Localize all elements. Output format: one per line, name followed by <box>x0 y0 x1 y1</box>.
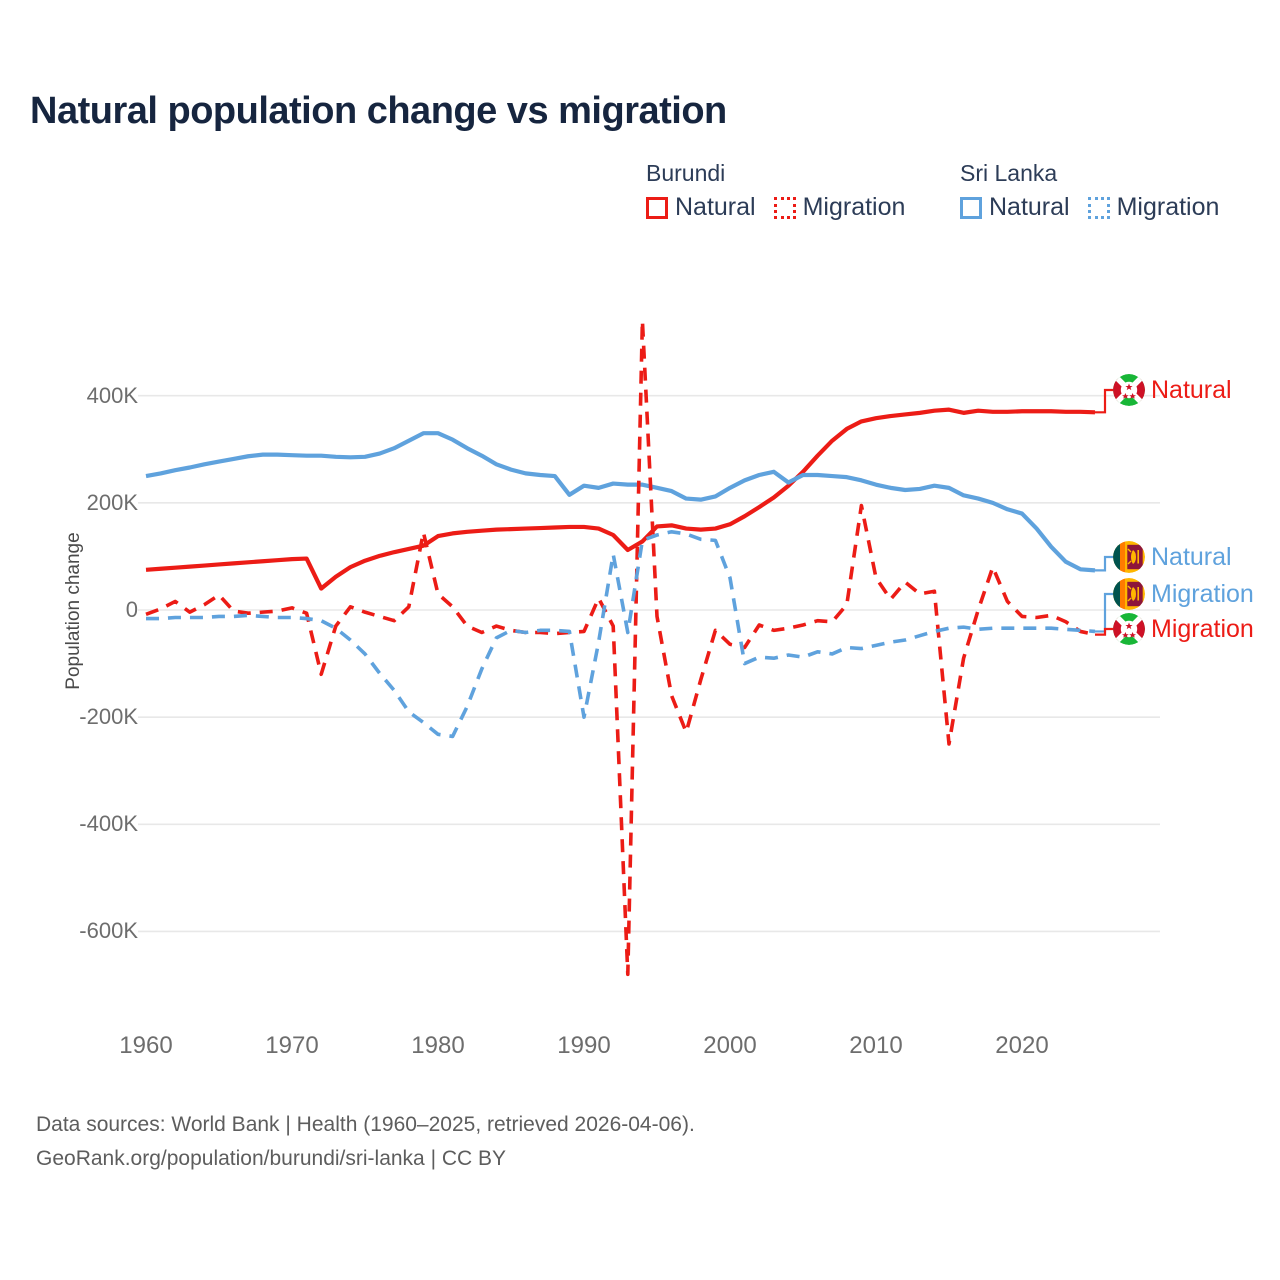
sri-lanka-flag-icon <box>1113 541 1145 573</box>
x-tick-label: 1960 <box>119 1032 172 1060</box>
end-label-text: Natural <box>1151 376 1232 405</box>
end-label-text: Migration <box>1151 580 1254 609</box>
end-label-text: Natural <box>1151 543 1232 572</box>
y-tick-label: -400K <box>28 811 138 837</box>
footer-attribution: GeoRank.org/population/burundi/sri-lanka… <box>36 1142 695 1176</box>
series-leader-line <box>1095 390 1113 412</box>
x-tick-label: 1990 <box>557 1032 610 1060</box>
y-tick-label: -600K <box>28 918 138 944</box>
y-tick-label: -200K <box>28 704 138 730</box>
sri-lanka-flag-icon <box>1113 578 1145 610</box>
plot-area <box>0 0 1280 1280</box>
series-line-burundi-migration <box>146 321 1095 975</box>
footer-data-sources: Data sources: World Bank | Health (1960–… <box>36 1108 695 1142</box>
burundi-flag-icon <box>1113 374 1145 406</box>
y-tick-label: 400K <box>28 383 138 409</box>
series-line-sri-lanka-natural <box>146 433 1095 570</box>
x-tick-label: 2010 <box>849 1032 902 1060</box>
series-line-burundi-natural <box>146 410 1095 589</box>
end-label-burundi-migration[interactable]: Migration <box>1113 613 1254 645</box>
end-label-burundi-natural[interactable]: Natural <box>1113 374 1232 406</box>
x-tick-label: 1980 <box>411 1032 464 1060</box>
y-tick-label: 0 <box>28 597 138 623</box>
series-leader-line <box>1095 557 1113 570</box>
x-tick-label: 2000 <box>703 1032 756 1060</box>
chart-root: Natural population change vs migration B… <box>0 0 1280 1280</box>
burundi-flag-icon <box>1113 613 1145 645</box>
series-leader-line <box>1095 594 1113 631</box>
footer: Data sources: World Bank | Health (1960–… <box>36 1108 695 1175</box>
end-label-sri-lanka-natural[interactable]: Natural <box>1113 541 1232 573</box>
end-label-sri-lanka-migration[interactable]: Migration <box>1113 578 1254 610</box>
y-tick-label: 200K <box>28 490 138 516</box>
end-label-text: Migration <box>1151 615 1254 644</box>
x-tick-label: 2020 <box>995 1032 1048 1060</box>
x-tick-label: 1970 <box>265 1032 318 1060</box>
series-line-sri-lanka-migration <box>146 532 1095 737</box>
